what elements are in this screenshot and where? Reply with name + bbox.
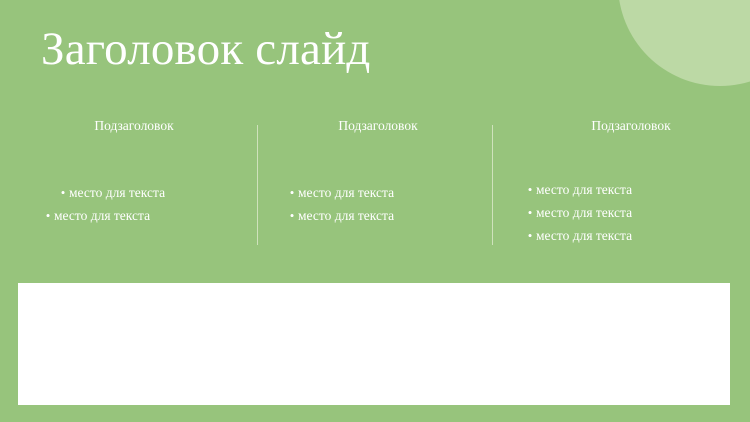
bullet-dot-icon: • <box>57 181 69 204</box>
list-item-label: место для текста <box>69 181 165 204</box>
column-2: Подзаголовок •место для текста •место дл… <box>264 118 486 258</box>
list-item-label: место для текста <box>536 201 632 224</box>
column-3: Подзаголовок •место для текста •место дл… <box>500 118 732 258</box>
list-item-label: место для текста <box>298 181 394 204</box>
column-1: Подзаголовок •место для текста •место дл… <box>18 118 250 258</box>
list-item-label: место для текста <box>298 204 394 227</box>
list-item: •место для текста <box>264 204 486 227</box>
column-1-bullet-list: •место для текста •место для текста <box>18 181 250 227</box>
decorative-circle-shape <box>618 0 750 86</box>
bullet-dot-icon: • <box>524 178 536 201</box>
bullet-dot-icon: • <box>42 204 54 227</box>
column-3-heading: Подзаголовок <box>500 118 732 134</box>
list-item-label: место для текста <box>536 178 632 201</box>
column-2-heading: Подзаголовок <box>264 118 486 134</box>
slide-title: Заголовок слайд <box>41 22 371 76</box>
bullet-dot-icon: • <box>524 201 536 224</box>
bullet-dot-icon: • <box>524 224 536 247</box>
list-item: •место для текста <box>264 181 486 204</box>
bullet-dot-icon: • <box>286 181 298 204</box>
list-item: •место для текста <box>500 224 732 247</box>
columns-container: Подзаголовок •место для текста •место дл… <box>0 118 750 258</box>
list-item: •место для текста <box>500 178 732 201</box>
content-placeholder-panel[interactable] <box>18 283 730 405</box>
column-3-bullet-list: •место для текста •место для текста •мес… <box>500 178 732 247</box>
column-divider-2 <box>492 125 493 245</box>
list-item: •место для текста <box>500 201 732 224</box>
list-item-label: место для текста <box>536 224 632 247</box>
column-divider-1 <box>257 125 258 245</box>
list-item-label: место для текста <box>54 204 150 227</box>
list-item: •место для текста <box>18 181 250 204</box>
list-item: •место для текста <box>18 204 250 227</box>
column-2-bullet-list: •место для текста •место для текста <box>264 181 486 227</box>
column-1-heading: Подзаголовок <box>18 118 250 134</box>
slide-canvas: Заголовок слайд Подзаголовок •место для … <box>0 0 750 422</box>
bullet-dot-icon: • <box>286 204 298 227</box>
